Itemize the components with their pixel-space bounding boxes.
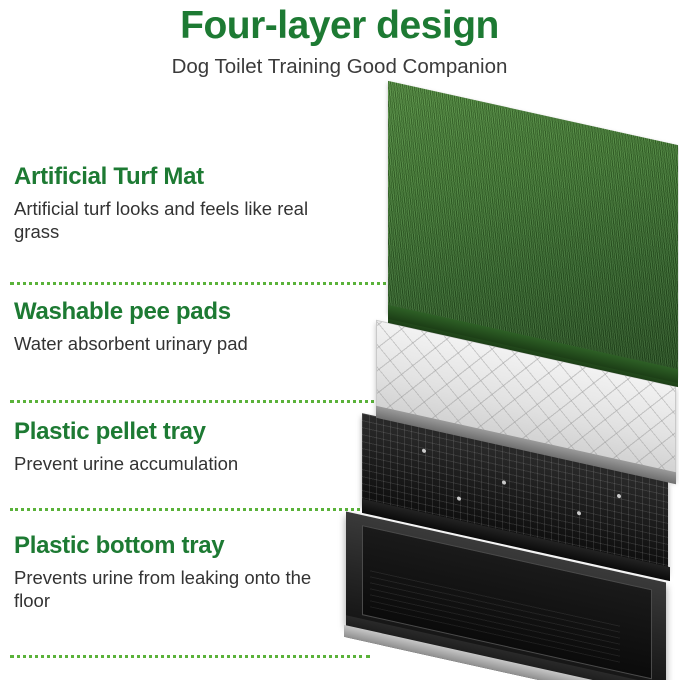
feature-description: Prevents urine from leaking onto the flo…: [14, 566, 344, 613]
feature-heading: Artificial Turf Mat: [14, 163, 344, 191]
artificial-turf-mat-layer: [388, 81, 678, 377]
product-infographic: Four-layer design Dog Toilet Training Go…: [0, 0, 679, 680]
leader-line-bottom: [10, 655, 370, 658]
feature-description: Water absorbent urinary pad: [14, 332, 344, 356]
feature-block-pee-pads: Washable pee pads Water absorbent urinar…: [14, 298, 344, 355]
feature-description: Artificial turf looks and feels like rea…: [14, 197, 344, 244]
feature-block-turf: Artificial Turf Mat Artificial turf look…: [14, 163, 344, 244]
feature-block-bottom-tray: Plastic bottom tray Prevents urine from …: [14, 532, 344, 613]
feature-block-pellet-tray: Plastic pellet tray Prevent urine accumu…: [14, 418, 344, 475]
feature-heading: Plastic pellet tray: [14, 418, 344, 446]
header: Four-layer design Dog Toilet Training Go…: [0, 0, 679, 79]
feature-heading: Washable pee pads: [14, 298, 344, 326]
feature-description: Prevent urine accumulation: [14, 452, 344, 476]
page-subtitle: Dog Toilet Training Good Companion: [0, 55, 679, 79]
feature-heading: Plastic bottom tray: [14, 532, 344, 560]
page-title: Four-layer design: [0, 6, 679, 47]
product-exploded-view: [340, 95, 679, 675]
